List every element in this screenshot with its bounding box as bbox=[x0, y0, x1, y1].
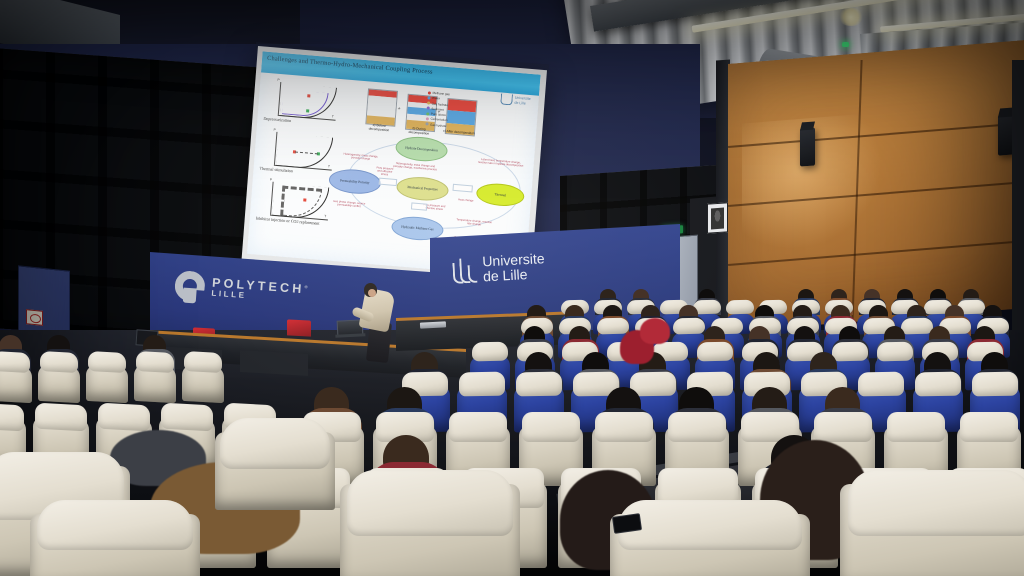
flow-arrow-box bbox=[379, 178, 397, 186]
chart-caption: Depressurization bbox=[263, 116, 291, 123]
chart-point-start bbox=[307, 94, 310, 97]
seat-headrest bbox=[960, 412, 1019, 442]
seat-headrest bbox=[0, 351, 30, 373]
seat-headrest bbox=[697, 342, 734, 362]
chart-curve-shifted bbox=[280, 186, 322, 219]
seat-headrest bbox=[887, 412, 946, 442]
seat-headrest bbox=[814, 412, 873, 442]
seat-headrest bbox=[618, 500, 802, 550]
audience-seat[interactable] bbox=[86, 351, 128, 403]
chart-x-label: T bbox=[332, 114, 334, 118]
seat-headrest bbox=[668, 412, 727, 442]
wall-speaker-icon bbox=[800, 127, 815, 166]
presenter-face bbox=[368, 289, 376, 297]
registered-mark-icon: ® bbox=[305, 284, 311, 289]
ceiling-spotlight-3 bbox=[838, 8, 864, 26]
audience-seat[interactable] bbox=[38, 351, 80, 403]
slide-university-logo: Universite de Lille bbox=[500, 94, 535, 108]
flow-arrow-box-3 bbox=[411, 202, 427, 210]
no-smoking-sign-icon bbox=[26, 309, 43, 326]
seat-headrest bbox=[597, 318, 628, 335]
ul-monogram-icon bbox=[452, 257, 477, 284]
chart-curve-secondary bbox=[282, 89, 329, 118]
seat-headrest bbox=[595, 412, 654, 442]
chart-point-end bbox=[306, 109, 309, 112]
legend-label: Water bbox=[432, 96, 440, 101]
seat-headrest bbox=[40, 351, 79, 373]
plus-sign-icon: + bbox=[397, 106, 400, 112]
seat-headrest bbox=[161, 403, 213, 432]
seat-headrest bbox=[832, 342, 869, 362]
audience-seat[interactable] bbox=[134, 351, 176, 403]
stage-chair-red-2 bbox=[287, 319, 311, 336]
seat-headrest bbox=[522, 412, 581, 442]
seat-headrest bbox=[516, 372, 562, 397]
flow-edge-label: Pore pressure and effective stress bbox=[373, 166, 396, 177]
lecture-hall-photo: Challenges and Thermo-Hydro-Mechanical C… bbox=[0, 0, 1024, 576]
desk-panel-2 bbox=[240, 350, 308, 376]
seat-headrest bbox=[848, 470, 1024, 536]
legend-swatch bbox=[426, 117, 429, 120]
seat-headrest bbox=[459, 372, 505, 397]
seat-headrest bbox=[915, 372, 961, 397]
foreground-seat[interactable] bbox=[840, 470, 1024, 576]
bar-segment-water bbox=[367, 96, 396, 118]
framed-portrait bbox=[707, 202, 728, 233]
universite-de-lille-logo: Universite de Lille bbox=[452, 251, 546, 285]
audience-seat[interactable] bbox=[0, 351, 32, 403]
legend-swatch bbox=[427, 101, 430, 104]
seat-headrest bbox=[858, 372, 904, 397]
legend-swatch bbox=[427, 96, 430, 99]
seat-headrest bbox=[901, 318, 932, 335]
seat-headrest bbox=[184, 351, 223, 373]
foreground-seat[interactable] bbox=[215, 418, 335, 510]
seat-headrest bbox=[88, 351, 127, 373]
seat-headrest bbox=[877, 342, 914, 362]
chart-point bbox=[303, 198, 306, 201]
slide-legend: Methane gas Water Gas hydrate Sediment P… bbox=[425, 90, 480, 131]
seat-headrest bbox=[673, 318, 704, 335]
bar-group-before bbox=[365, 88, 398, 126]
legend-swatch bbox=[426, 112, 429, 115]
legend-swatch bbox=[427, 107, 430, 110]
legend-label: Pore space bbox=[431, 112, 446, 117]
wall-edge-strip bbox=[1012, 60, 1024, 330]
polytech-mark-icon bbox=[174, 270, 206, 302]
foreground-seat[interactable] bbox=[340, 470, 520, 576]
audience-seat[interactable] bbox=[182, 351, 224, 403]
universite-wordmark: Universite de Lille bbox=[482, 251, 546, 284]
legend-label: Gas hydrate bbox=[430, 122, 447, 127]
audience-member-red-scarf-top bbox=[640, 318, 670, 344]
ul-logo-icon bbox=[500, 94, 513, 106]
seat-headrest bbox=[0, 403, 24, 432]
seat-headrest bbox=[347, 470, 513, 536]
seat-headrest bbox=[37, 500, 193, 550]
foreground-seat[interactable] bbox=[610, 500, 810, 576]
seat-headrest bbox=[98, 403, 150, 432]
legend-label: Sediment bbox=[431, 107, 444, 112]
seat-headrest bbox=[726, 300, 754, 314]
slide-logo-text: Universite de Lille bbox=[514, 96, 531, 106]
seat-headrest bbox=[35, 403, 87, 432]
seat-headrest bbox=[220, 418, 330, 469]
green-indicator-light-icon bbox=[842, 42, 849, 47]
seat-headrest bbox=[972, 372, 1018, 397]
polytech-wordmark: POLYTECH® LILLE bbox=[211, 276, 311, 306]
chart-depressurization: P T Depressurization bbox=[261, 78, 362, 133]
seat-headrest bbox=[472, 342, 509, 362]
seat-headrest bbox=[449, 412, 508, 442]
legend-swatch bbox=[428, 91, 431, 94]
foreground-seat[interactable] bbox=[30, 500, 200, 576]
seat-headrest bbox=[136, 351, 175, 373]
legend-swatch bbox=[425, 123, 428, 126]
